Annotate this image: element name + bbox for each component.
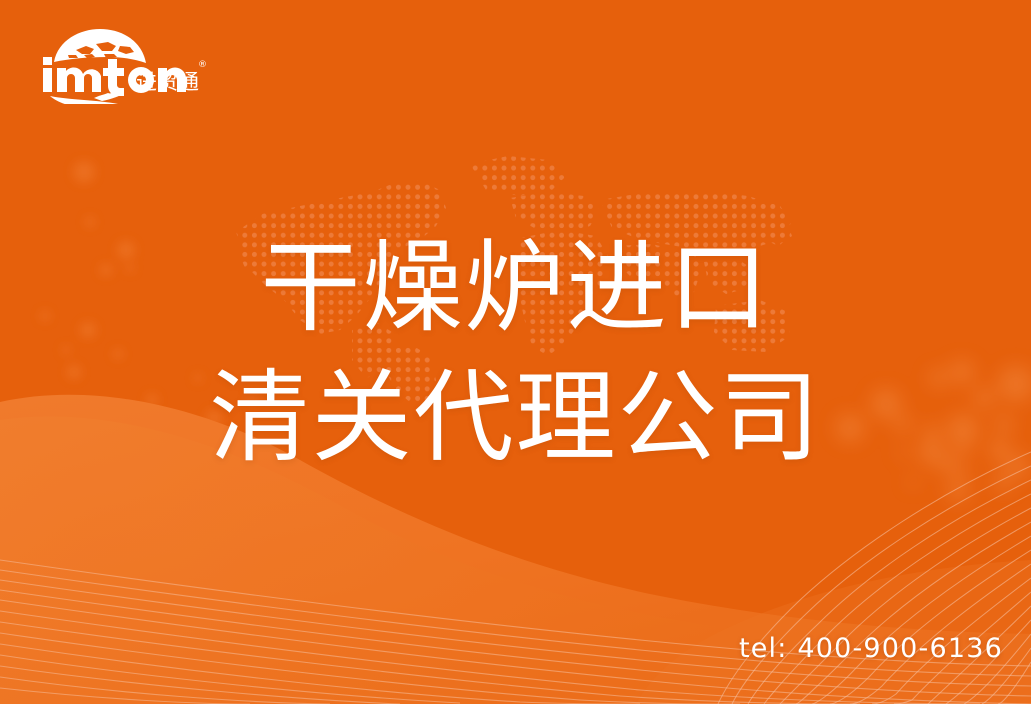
logo-chinese-text: 进贸通	[136, 70, 199, 94]
logo-chinese-name: 进贸通	[136, 70, 199, 94]
registered-trademark-icon: ®	[198, 60, 207, 70]
promo-banner: 进贸通 ® 干燥炉进口 清关代理公司 tel: 400-900-6136	[0, 0, 1031, 704]
fine-curve-lines	[0, 0, 1031, 704]
imton-logo[interactable]: 进贸通 ®	[38, 26, 214, 104]
globe-arc-icon	[54, 29, 146, 63]
contact-phone[interactable]: tel: 400-900-6136	[739, 633, 1003, 664]
swoosh-bird-icon	[50, 93, 124, 104]
